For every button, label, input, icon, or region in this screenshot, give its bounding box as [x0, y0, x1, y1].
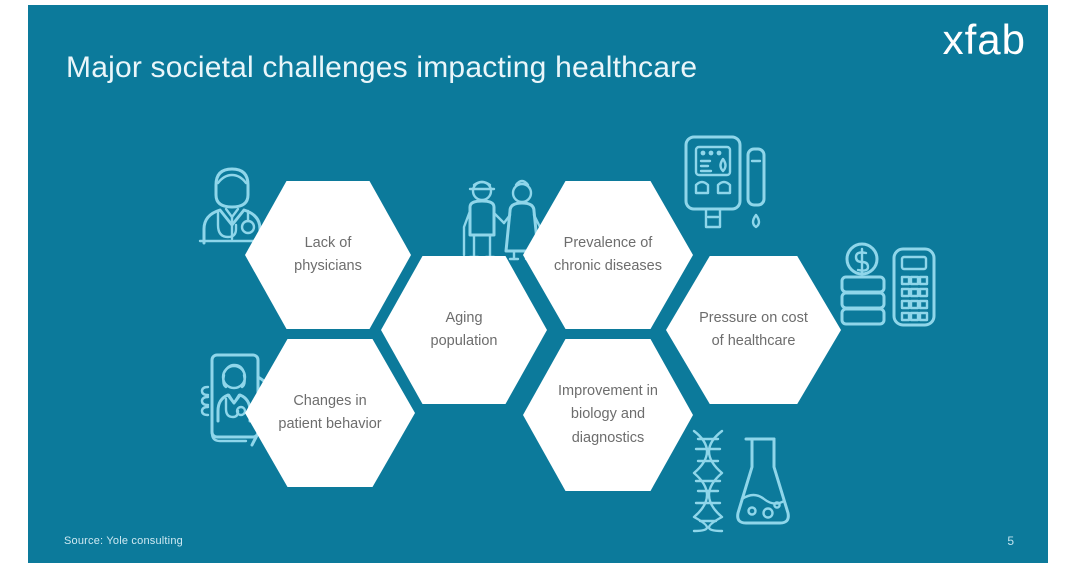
source-note: Source: Yole consulting [64, 535, 183, 547]
page-number: 5 [1007, 534, 1014, 548]
hexagon-pressure-on-cost[interactable]: Pressure on costof healthcare [666, 256, 841, 404]
glucose-meter-icon [678, 131, 772, 235]
hexagon-label: Improvement inbiology anddiagnostics [544, 380, 672, 450]
hexagon-label: Agingpopulation [417, 307, 512, 354]
hexagon-improvement-biology-diagnostics[interactable]: Improvement inbiology anddiagnostics [523, 339, 693, 491]
page-title: Major societal challenges impacting heal… [66, 51, 697, 85]
hexagon-label: Pressure on costof healthcare [685, 307, 822, 354]
hexagon-label: Changes inpatient behavior [264, 390, 395, 437]
dna-flask-icon [682, 425, 792, 535]
hexagon-prevalence-chronic-diseases[interactable]: Prevalence ofchronic diseases [523, 181, 693, 329]
hexagon-aging-population[interactable]: Agingpopulation [381, 256, 547, 404]
money-calculator-icon [834, 241, 938, 329]
slide-canvas: xfab Major societal challenges impacting… [28, 5, 1048, 563]
xfab-logo: xfab [943, 19, 1026, 61]
hexagon-label: Prevalence ofchronic diseases [540, 232, 676, 279]
hexagon-label: Lack ofphysicians [280, 232, 376, 279]
